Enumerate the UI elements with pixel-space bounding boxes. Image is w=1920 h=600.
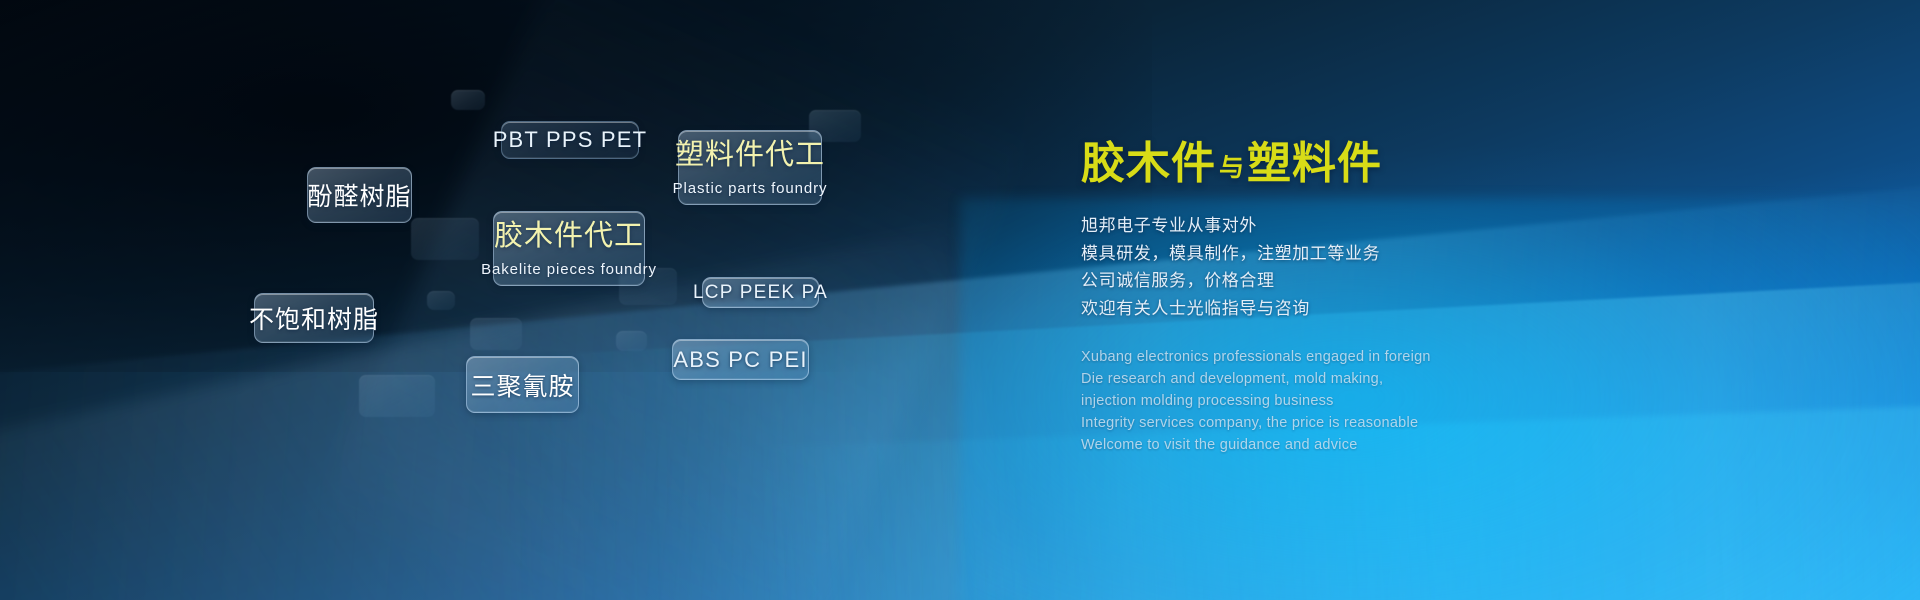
feature-card-title-en: Plastic parts foundry <box>673 180 828 197</box>
promotional-banner: PBT PPS PET 酚醛树脂 不饱和树脂 LCP PEEK PA ABS P… <box>0 0 1920 600</box>
feature-card-title-cn: 胶木件代工 <box>494 219 644 253</box>
headline-part2: 塑料件 <box>1247 139 1382 188</box>
material-tag-label: 三聚氰胺 <box>470 367 574 403</box>
feature-card-title-en: Bakelite pieces foundry <box>481 261 657 278</box>
material-tag-lcp-peek-pa[interactable]: LCP PEEK PA <box>702 277 819 308</box>
decorative-square-4 <box>427 291 455 310</box>
material-tag-label: ABS PC PEI <box>673 347 807 373</box>
material-tag-label: LCP PEEK PA <box>693 282 828 304</box>
headline: 胶木件与塑料件 <box>1081 142 1701 186</box>
material-tag-abs-pc-pei[interactable]: ABS PC PEI <box>672 339 809 380</box>
description-cn-line: 模具研发，模具制作，注塑加工等业务 <box>1081 240 1701 268</box>
decorative-square-8 <box>359 375 435 417</box>
material-tag-unsaturated-resin[interactable]: 不饱和树脂 <box>254 293 374 343</box>
marketing-copy-block: 胶木件与塑料件 旭邦电子专业从事对外 模具研发，模具制作，注塑加工等业务 公司诚… <box>1081 142 1701 456</box>
description-cn-line: 公司诚信服务，价格合理 <box>1081 267 1701 295</box>
description-en-line: Welcome to visit the guidance and advice <box>1081 434 1701 456</box>
decorative-square-3 <box>411 218 479 260</box>
background-dark-vignette <box>0 0 1152 372</box>
description-chinese: 旭邦电子专业从事对外 模具研发，模具制作，注塑加工等业务 公司诚信服务，价格合理… <box>1081 212 1701 322</box>
material-tag-label: PBT PPS PET <box>493 127 648 153</box>
headline-part1: 胶木件 <box>1081 139 1216 188</box>
decorative-square-6 <box>616 331 647 351</box>
description-cn-line: 旭邦电子专业从事对外 <box>1081 212 1701 240</box>
material-tag-label: 不饱和树脂 <box>249 300 379 336</box>
description-en-line: injection molding processing business <box>1081 390 1701 412</box>
material-tag-phenolic-resin[interactable]: 酚醛树脂 <box>307 167 412 223</box>
description-en-line: Xubang electronics professionals engaged… <box>1081 346 1701 368</box>
feature-card-title-cn: 塑料件代工 <box>675 138 825 172</box>
description-en-line: Integrity services company, the price is… <box>1081 412 1701 434</box>
decorative-square-1 <box>451 90 485 110</box>
description-english: Xubang electronics professionals engaged… <box>1081 346 1701 456</box>
feature-card-plastic-parts-foundry[interactable]: 塑料件代工 Plastic parts foundry <box>678 130 822 205</box>
headline-conjunction: 与 <box>1216 154 1247 182</box>
description-cn-line: 欢迎有关人士光临指导与咨询 <box>1081 295 1701 323</box>
material-tag-label: 酚醛树脂 <box>308 177 412 213</box>
material-tag-pbt-pps-pet[interactable]: PBT PPS PET <box>501 121 639 159</box>
description-en-line: Die research and development, mold makin… <box>1081 368 1701 390</box>
feature-card-bakelite-pieces-foundry[interactable]: 胶木件代工 Bakelite pieces foundry <box>493 211 645 286</box>
decorative-square-5 <box>470 318 522 350</box>
material-tag-melamine[interactable]: 三聚氰胺 <box>466 356 579 413</box>
